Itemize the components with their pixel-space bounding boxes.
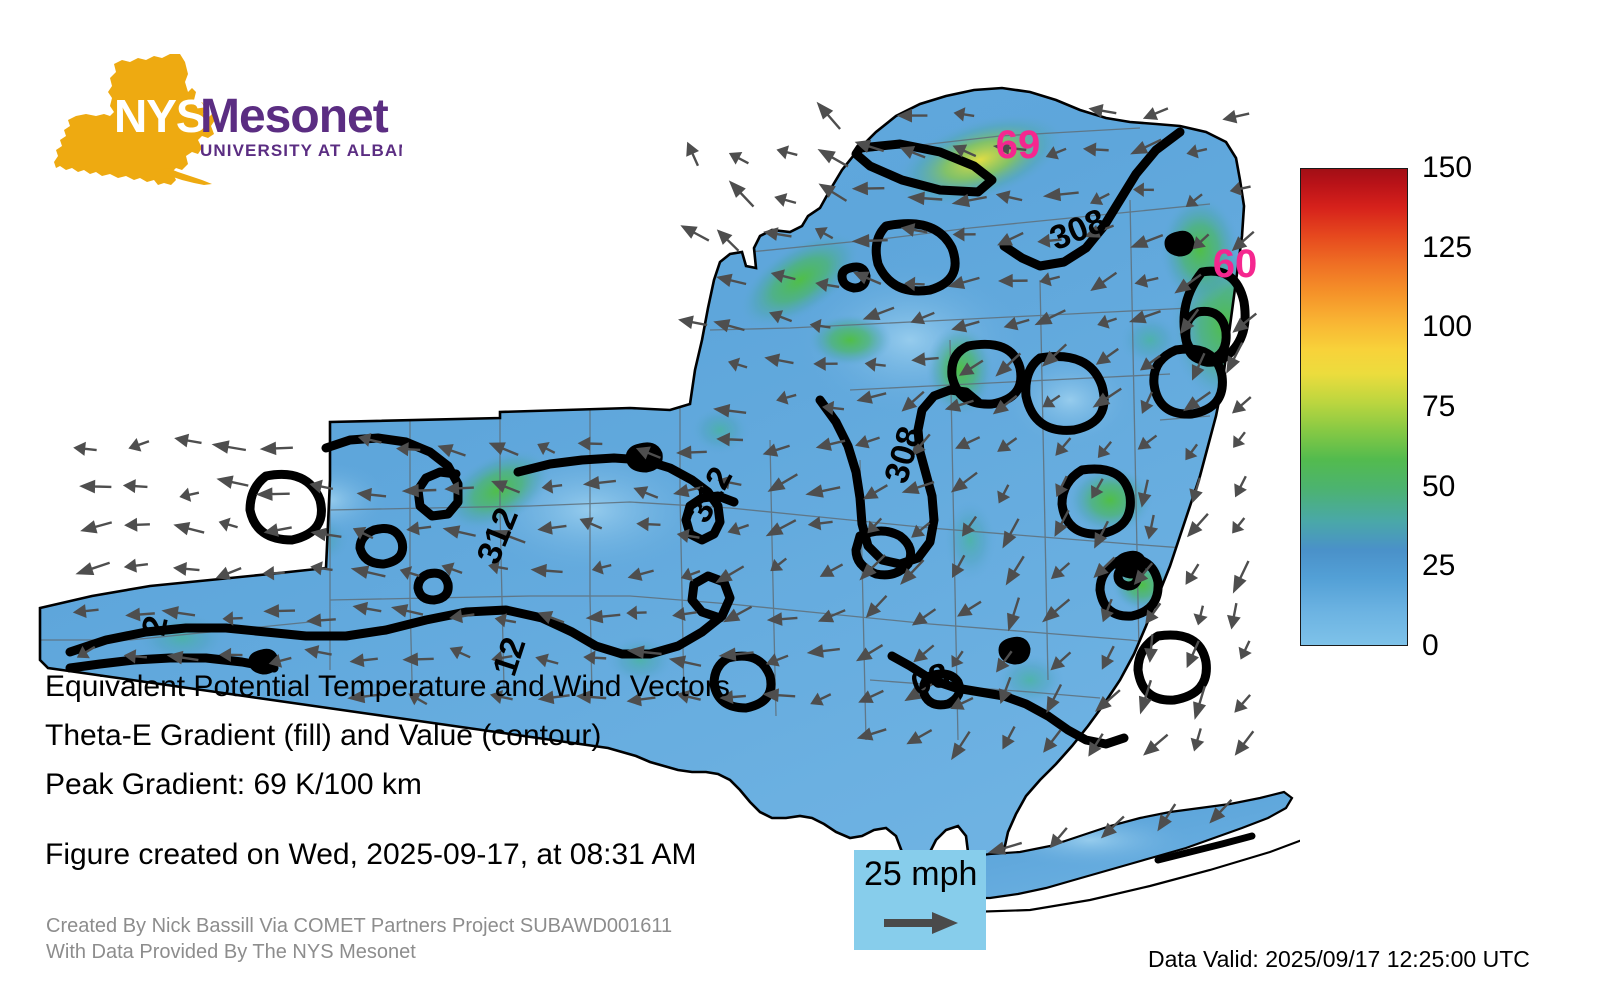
wind-vector-arrow xyxy=(129,437,151,453)
colorbar-tick-25: 25 xyxy=(1422,551,1455,581)
gradient-annotation-60: 60 xyxy=(1213,242,1258,286)
wind-vector-arrow xyxy=(126,559,149,572)
wind-vector-arrow xyxy=(681,222,712,245)
theta-e-map: 30830808312312122 6960 xyxy=(30,40,1300,960)
wind-vector-arrow xyxy=(82,518,113,536)
colorbar-tick-0: 0 xyxy=(1422,631,1439,661)
wind-vector-arrow xyxy=(684,142,703,168)
wind-arrow-icon xyxy=(882,906,960,940)
wind-vector-arrow xyxy=(1224,109,1250,124)
caption-line-subtitle: Theta-E Gradient (fill) and Value (conto… xyxy=(45,711,865,760)
wind-vector-arrow xyxy=(219,517,239,532)
wind-vector-arrow xyxy=(1233,728,1258,756)
wind-vector-arrow xyxy=(1185,510,1211,538)
wind-vector-arrow xyxy=(125,480,148,491)
colorbar-tick-75: 75 xyxy=(1422,392,1455,422)
wind-vector-arrow xyxy=(1230,559,1253,593)
wind-vector-arrow xyxy=(777,145,798,159)
wind-speed-legend: 25 mph xyxy=(854,850,986,950)
wind-vector-arrow xyxy=(175,563,200,575)
wind-vector-arrow xyxy=(1183,561,1203,585)
wind-vector-arrow xyxy=(259,489,290,500)
wind-vector-arrow xyxy=(1142,731,1171,758)
wind-vector-arrow xyxy=(1229,515,1248,535)
wind-vector-arrow xyxy=(715,228,742,255)
credit-line-data-source: With Data Provided By The NYS Mesonet xyxy=(46,939,672,965)
wind-vector-arrow xyxy=(727,179,757,210)
credits-block: Created By Nick Bassill Via COMET Partne… xyxy=(46,913,672,965)
figure-canvas: NYS Mesonet UNIVERSITY AT ALBANY xyxy=(0,0,1600,1000)
state-fill-group xyxy=(30,40,1300,960)
wind-vector-arrow xyxy=(175,521,205,538)
colorbar-tick-125: 125 xyxy=(1422,233,1472,263)
wind-vector-arrow xyxy=(729,150,751,168)
wind-vector-arrow xyxy=(75,443,97,455)
wind-vector-arrow xyxy=(176,434,202,448)
wind-vector-arrow xyxy=(214,440,247,455)
caption-line-title: Equivalent Potential Temperature and Win… xyxy=(45,662,865,711)
wind-vector-arrow xyxy=(1231,393,1255,415)
contour-dot xyxy=(1169,235,1190,252)
figure-created-timestamp: Figure created on Wed, 2025-09-17, at 08… xyxy=(45,838,697,872)
wind-vector-arrow xyxy=(263,443,293,454)
colorbar-gradient xyxy=(1300,168,1408,646)
wind-vector-arrow xyxy=(1143,104,1169,123)
wind-vector-arrow xyxy=(775,193,797,208)
wind-vector-arrow xyxy=(1190,727,1206,751)
gradient-blob xyxy=(1120,314,1180,366)
colorbar-tick-150: 150 xyxy=(1422,153,1472,183)
colorbar-tick-100: 100 xyxy=(1422,312,1472,342)
data-valid-timestamp: Data Valid: 2025/09/17 12:25:00 UTC xyxy=(1148,946,1530,973)
gradient-annotation-69: 69 xyxy=(996,123,1041,167)
wind-legend-label: 25 mph xyxy=(864,854,977,894)
wind-vector-arrow xyxy=(180,488,200,502)
wind-vector-arrow xyxy=(218,475,249,491)
colorbar-tick-50: 50 xyxy=(1422,472,1455,502)
wind-vector-arrow xyxy=(815,101,844,132)
wind-vector-arrow xyxy=(1237,639,1254,660)
wind-vector-arrow xyxy=(77,558,111,578)
wind-vector-arrow xyxy=(126,519,150,530)
wind-vector-arrow xyxy=(1194,604,1208,624)
wind-vector-arrow xyxy=(1232,692,1254,715)
wind-vector-arrow xyxy=(82,481,111,492)
wind-vector-arrow xyxy=(1230,429,1249,449)
gradient-blob xyxy=(944,500,996,580)
wind-vector-arrow xyxy=(1232,474,1251,497)
map-svg: 30830808312312122 6960 xyxy=(30,40,1300,960)
colorbar: 1501251007550250 xyxy=(1300,168,1590,658)
wind-vector-arrow xyxy=(1227,602,1241,628)
caption-line-peak-gradient: Peak Gradient: 69 K/100 km xyxy=(45,760,865,809)
caption-block: Equivalent Potential Temperature and Win… xyxy=(45,662,865,809)
credit-line-author: Created By Nick Bassill Via COMET Partne… xyxy=(46,913,672,939)
